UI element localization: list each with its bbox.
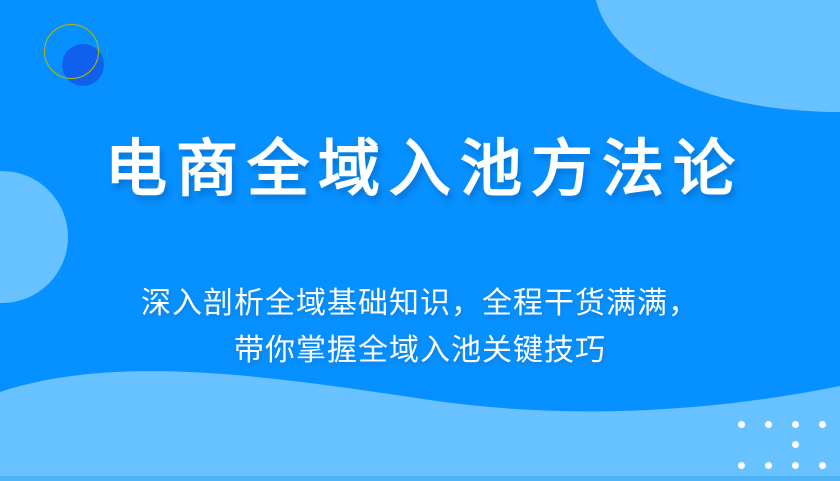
circle-outline-icon [44,24,99,79]
background-decoration [0,0,840,481]
dot-grid-decoration [738,421,826,469]
dot-icon [738,462,745,469]
promo-banner: 电商全域入池方法论 深入剖析全域基础知识，全程干货满满， 带你掌握全域入池关键技… [0,0,840,481]
dot-icon [819,421,826,428]
dot-icon [792,462,799,469]
badge-decoration [44,24,104,84]
dot-icon [792,441,799,448]
dot-icon [738,421,745,428]
bottom-edge-line [0,476,840,481]
dot-icon [819,462,826,469]
dot-icon [792,421,799,428]
dot-icon [765,462,772,469]
dot-icon [765,421,772,428]
